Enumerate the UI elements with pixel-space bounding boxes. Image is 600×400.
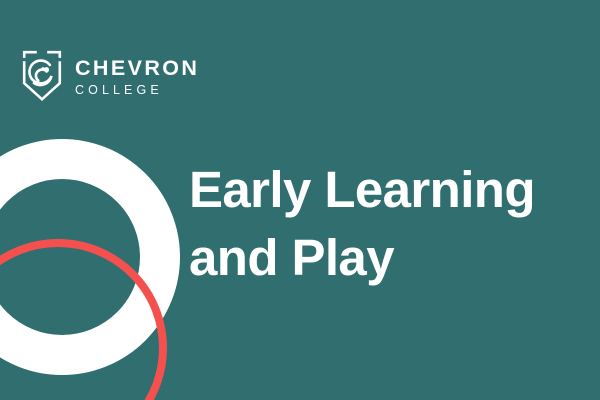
ring-outline-red-icon <box>0 243 163 400</box>
course-banner-card: CHEVRON COLLEGE Early Learning and Play <box>0 0 600 400</box>
brand-logo-lockup[interactable]: CHEVRON COLLEGE <box>22 50 199 102</box>
shield-swirl-icon <box>22 50 62 102</box>
page-title: Early Learning and Play <box>189 156 589 293</box>
brand-name-secondary: COLLEGE <box>75 83 199 97</box>
ring-outline-white-icon <box>0 159 160 355</box>
brand-wordmark: CHEVRON COLLEGE <box>75 55 199 98</box>
page-title-line-2: and Play <box>189 224 589 292</box>
page-title-line-1: Early Learning <box>189 156 589 224</box>
brand-name-primary: CHEVRON <box>75 57 199 80</box>
